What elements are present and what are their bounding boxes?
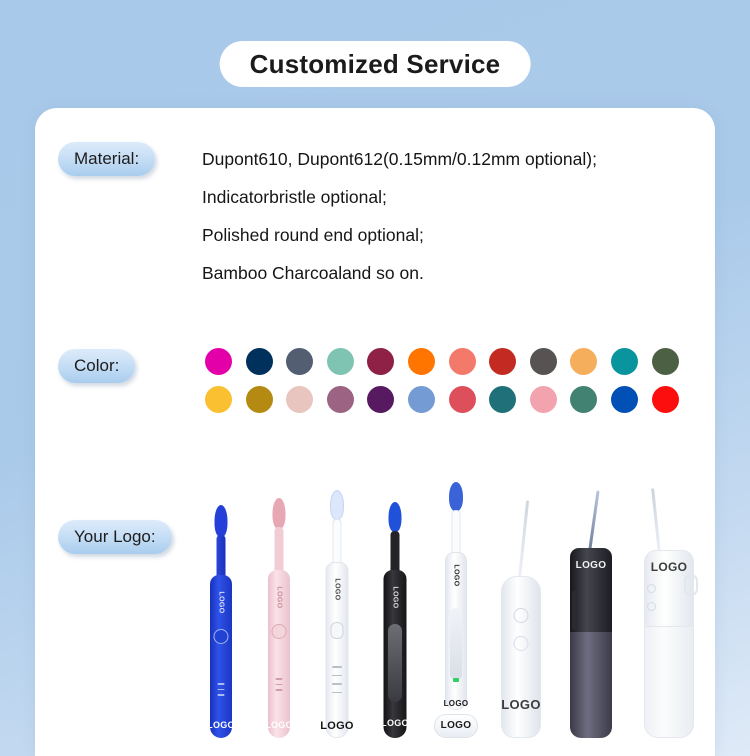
brush-control-panel bbox=[388, 624, 402, 702]
color-swatch[interactable] bbox=[530, 386, 557, 413]
flosser-logo-text: LOGO bbox=[651, 560, 688, 574]
brush-power-button[interactable] bbox=[214, 629, 229, 644]
color-swatch[interactable] bbox=[408, 348, 435, 375]
product-electric-toothbrush-black[interactable]: LOGO LOGO bbox=[372, 502, 418, 738]
product-electric-toothbrush-white-stand[interactable]: LOGO LOGO LOGO bbox=[430, 482, 482, 738]
brush-bristles-icon bbox=[273, 498, 286, 529]
flosser-nozzle-icon bbox=[518, 500, 529, 578]
material-line: Polished round end optional; bbox=[202, 216, 702, 254]
color-swatch[interactable] bbox=[286, 386, 313, 413]
material-line: Dupont610, Dupont612(0.15mm/0.12mm optio… bbox=[202, 140, 702, 178]
page-title-pill: Customized Service bbox=[220, 41, 531, 87]
material-line: Bamboo Charcoaland so on. bbox=[202, 254, 702, 292]
flosser-tank bbox=[644, 626, 694, 738]
color-swatch-row-1 bbox=[205, 348, 705, 375]
flosser-power-button[interactable] bbox=[514, 608, 529, 623]
color-swatch[interactable] bbox=[570, 348, 597, 375]
brush-mode-indicators bbox=[218, 683, 225, 696]
color-swatch[interactable] bbox=[449, 386, 476, 413]
brush-logo-text: LOGO bbox=[453, 564, 460, 586]
color-swatch[interactable] bbox=[205, 386, 232, 413]
flosser-logo-text: LOGO bbox=[501, 697, 540, 712]
product-image-strip: LOGO LOGO LOGO LOGO LOGO bbox=[190, 478, 715, 738]
brush-base-logo: LOGO bbox=[381, 718, 409, 728]
brush-mode-indicators bbox=[332, 666, 342, 693]
product-electric-toothbrush-pink[interactable]: LOGO LOGO bbox=[256, 496, 302, 738]
flosser-nozzle-icon bbox=[588, 490, 600, 552]
flosser-power-button[interactable] bbox=[647, 584, 656, 593]
content-card: Material: Dupont610, Dupont612(0.15mm/0.… bbox=[35, 108, 715, 756]
brush-power-button[interactable] bbox=[331, 622, 344, 639]
page-title: Customized Service bbox=[250, 49, 501, 80]
color-swatch[interactable] bbox=[449, 348, 476, 375]
logo-label: Your Logo: bbox=[74, 527, 156, 547]
color-swatch-grid bbox=[205, 348, 705, 424]
flosser-control-strip bbox=[572, 590, 578, 630]
color-swatch[interactable] bbox=[327, 386, 354, 413]
brush-logo-text: LOGO bbox=[218, 591, 225, 613]
flosser-handle bbox=[684, 574, 698, 596]
color-swatch-row-2 bbox=[205, 386, 705, 413]
product-electric-toothbrush-white[interactable]: LOGO LOGO bbox=[314, 490, 360, 738]
brush-logo-text: LOGO bbox=[392, 586, 399, 608]
flosser-tank bbox=[570, 632, 612, 738]
brush-bristles-icon bbox=[389, 502, 402, 532]
color-label: Color: bbox=[74, 356, 119, 376]
product-water-flosser-black[interactable]: LOGO bbox=[562, 490, 620, 738]
brush-logo-text: LOGO bbox=[276, 586, 283, 608]
brush-neck bbox=[452, 510, 461, 558]
flosser-body bbox=[501, 576, 541, 738]
brush-bristles-icon bbox=[449, 482, 463, 511]
color-swatch[interactable] bbox=[530, 348, 557, 375]
brush-mode-indicators bbox=[276, 678, 283, 691]
product-water-flosser-white[interactable]: LOGO bbox=[490, 500, 552, 738]
flosser-mode-button[interactable] bbox=[514, 636, 529, 651]
color-swatch[interactable] bbox=[611, 386, 638, 413]
logo-label-pill: Your Logo: bbox=[58, 520, 172, 554]
material-label-pill: Material: bbox=[58, 142, 155, 176]
brush-base-logo: LOGO bbox=[265, 720, 293, 730]
brush-base-logo: LOGO bbox=[444, 699, 469, 708]
color-swatch[interactable] bbox=[246, 386, 273, 413]
brush-power-button[interactable] bbox=[272, 624, 287, 639]
color-swatch[interactable] bbox=[367, 386, 394, 413]
color-swatch[interactable] bbox=[286, 348, 313, 375]
brush-bristles-icon bbox=[215, 505, 228, 537]
color-swatch[interactable] bbox=[652, 386, 679, 413]
color-swatch[interactable] bbox=[408, 386, 435, 413]
material-text-block: Dupont610, Dupont612(0.15mm/0.12mm optio… bbox=[202, 140, 702, 292]
color-label-pill: Color: bbox=[58, 349, 135, 383]
flosser-mode-button[interactable] bbox=[647, 602, 656, 611]
color-swatch[interactable] bbox=[611, 348, 638, 375]
brush-logo-text: LOGO bbox=[334, 578, 341, 600]
stand-logo-text: LOGO bbox=[441, 720, 472, 731]
product-electric-toothbrush-blue[interactable]: LOGO LOGO bbox=[198, 503, 244, 738]
color-swatch[interactable] bbox=[327, 348, 354, 375]
color-swatch[interactable] bbox=[652, 348, 679, 375]
color-swatch[interactable] bbox=[367, 348, 394, 375]
color-swatch[interactable] bbox=[205, 348, 232, 375]
brush-battery-indicator bbox=[453, 678, 459, 682]
brush-bristles-icon bbox=[330, 490, 344, 520]
color-swatch[interactable] bbox=[489, 348, 516, 375]
material-label: Material: bbox=[74, 149, 139, 169]
material-line: Indicatorbristle optional; bbox=[202, 178, 702, 216]
brush-display-panel bbox=[450, 608, 462, 680]
color-swatch[interactable] bbox=[570, 386, 597, 413]
color-swatch[interactable] bbox=[489, 386, 516, 413]
flosser-logo-text: LOGO bbox=[576, 560, 607, 571]
product-water-flosser-portable-white[interactable]: LOGO bbox=[634, 488, 704, 738]
brush-base-logo: LOGO bbox=[320, 720, 354, 732]
flosser-nozzle-icon bbox=[651, 488, 661, 554]
color-swatch[interactable] bbox=[246, 348, 273, 375]
brush-base-logo: LOGO bbox=[207, 720, 235, 730]
